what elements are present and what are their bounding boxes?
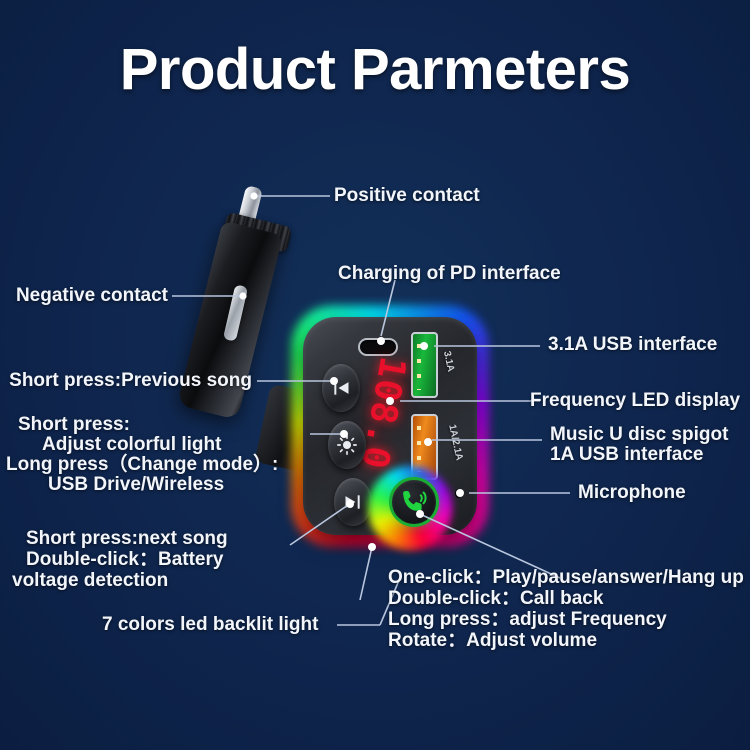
usb-orange-amp-label: 1A/2.1A: [446, 423, 464, 461]
callout-call-line3: Long press：adjust Frequency: [388, 609, 667, 631]
rgb-backlight-halo-outer: [288, 302, 492, 550]
callout-call-line1: One-click：Play/pause/answer/Hang up: [388, 567, 744, 589]
usb-pins-icon: [417, 426, 421, 472]
call-button-rgb-ring: [368, 466, 452, 550]
next-track-button[interactable]: [334, 478, 372, 526]
callout-u-disc-line2: 1A USB interface: [550, 444, 703, 466]
callout-negative-contact: Negative contact: [0, 285, 168, 307]
callout-microphone: Microphone: [578, 482, 686, 504]
page-title: Product Parmeters: [0, 36, 750, 103]
device-front-face: [303, 317, 477, 535]
callout-backlit-light: 7 colors led backlit light: [102, 614, 318, 636]
callout-pd-interface: Charging of PD interface: [338, 263, 561, 285]
usb-pins-icon: [417, 344, 421, 390]
callout-previous-song: Short press:Previous song: [0, 370, 252, 392]
callout-next-song-line1: Short press:next song: [26, 528, 228, 550]
callout-frequency-led: Frequency LED display: [530, 390, 740, 412]
callout-positive-contact: Positive contact: [334, 185, 480, 207]
plug-collar: [222, 212, 292, 253]
microphone-hole: [455, 489, 462, 498]
callout-call-line2: Double-click：Call back: [388, 588, 603, 610]
previous-track-button[interactable]: [322, 364, 360, 412]
callout-next-song-line3: voltage detection: [12, 570, 168, 592]
brightness-sun-icon: [337, 435, 358, 456]
positive-contact-tip: [237, 185, 263, 226]
callout-next-song-line2: Double-click：Battery: [26, 549, 223, 571]
callout-light-line4: USB Drive/Wireless: [48, 474, 224, 496]
skip-next-icon: [343, 492, 363, 512]
usb-a-port-3-1a[interactable]: [411, 332, 438, 398]
callout-u-disc-line1: Music U disc spigot: [550, 424, 728, 446]
light-mode-button[interactable]: [328, 421, 366, 469]
callout-light-line1: Short press:: [18, 414, 130, 436]
callout-call-line4: Rotate：Adjust volume: [388, 630, 597, 652]
frequency-led-display: 108.0: [352, 358, 414, 468]
product-diagram-canvas: Product Parmeters 3.1A 1A/2.1A 108.0: [0, 0, 750, 750]
callout-light-line3: Long press（Change mode）:: [6, 454, 278, 476]
phone-call-icon: [399, 487, 429, 517]
usb-green-amp-label: 3.1A: [441, 350, 456, 373]
led-digits-value: 108.0: [353, 354, 413, 473]
call-answer-button[interactable]: [389, 477, 439, 527]
callout-usb-3-1a: 3.1A USB interface: [548, 334, 717, 356]
callout-light-line2: Adjust colorful light: [42, 434, 221, 456]
usb-a-port-1a[interactable]: [411, 414, 438, 480]
usb-c-pd-port[interactable]: [358, 338, 398, 356]
negative-contact-clip: [223, 284, 248, 341]
skip-previous-icon: [331, 378, 351, 398]
rgb-backlight-halo-inner: [292, 306, 488, 546]
